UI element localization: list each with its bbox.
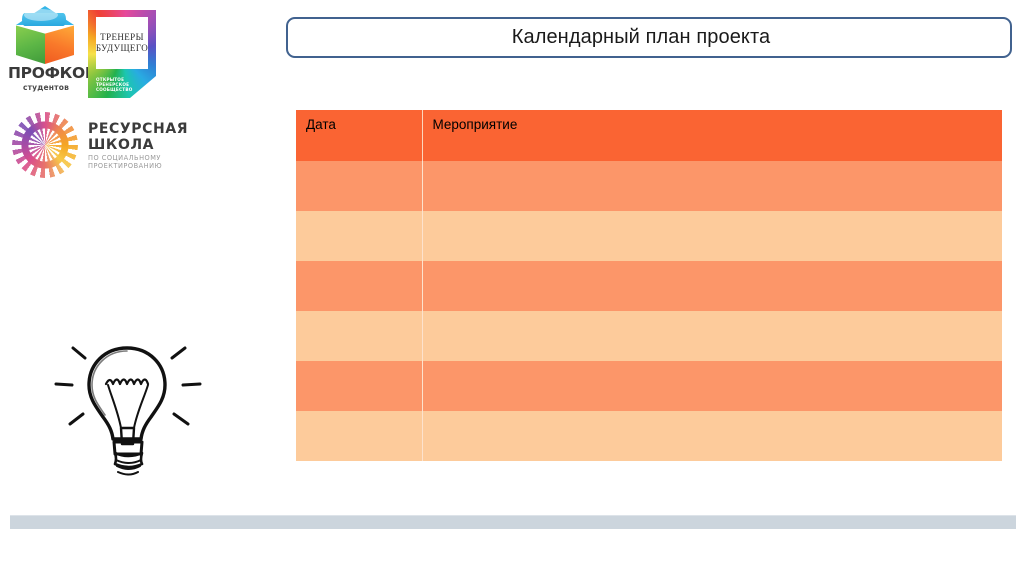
resursnaya-logo-line1: РЕСУРСНАЯ <box>88 121 188 137</box>
trenery-logo-inner: ТРЕНЕРЫ БУДУЩЕГО <box>96 17 148 69</box>
table-row <box>296 211 1002 261</box>
table-cell-event <box>422 411 1002 461</box>
table-body <box>296 161 1002 461</box>
table-row <box>296 411 1002 461</box>
trenery-logo-line1: ТРЕНЕРЫ <box>100 32 144 43</box>
table-cell-date <box>296 211 422 261</box>
table-row <box>296 311 1002 361</box>
gradient-gear-teeth-icon <box>12 112 78 178</box>
table-row <box>296 261 1002 311</box>
logo-block: ПРОФКОМ студентов ТРЕНЕРЫ БУДУЩЕГО ОТКРЫ… <box>0 0 285 190</box>
table-cell-date <box>296 161 422 211</box>
table-cell-date <box>296 311 422 361</box>
bottom-divider-bar <box>10 515 1016 529</box>
table-cell-event <box>422 161 1002 211</box>
table-cell-event <box>422 261 1002 311</box>
column-header-event: Мероприятие <box>422 110 1002 161</box>
profkom-logo-subtitle: студентов <box>8 83 84 92</box>
resursnaya-logo-line2: ШКОЛА <box>88 137 154 153</box>
lightbulb-illustration <box>52 332 202 477</box>
table-header-row: Дата Мероприятие <box>296 110 1002 161</box>
resursnaya-logo-caption: ПО СОЦИАЛЬНОМУПРОЕКТИРОВАНИЮ <box>88 154 162 170</box>
trenery-budushchego-logo: ТРЕНЕРЫ БУДУЩЕГО ОТКРЫТОЕ ТРЕНЕРСКОЕ СОО… <box>88 10 156 98</box>
profkom-logo-title: ПРОФКОМ <box>8 64 84 82</box>
page-title: Календарный план проекта <box>512 26 771 49</box>
trenery-logo-line2: БУДУЩЕГО <box>96 43 148 54</box>
calendar-plan-table: Дата Мероприятие <box>296 110 1002 461</box>
table-cell-event <box>422 311 1002 361</box>
table-cell-event <box>422 211 1002 261</box>
table-cell-date <box>296 411 422 461</box>
table-cell-date <box>296 261 422 311</box>
table-row <box>296 361 1002 411</box>
resursnaya-shkola-logo: РЕСУРСНАЯ ШКОЛА ПО СОЦИАЛЬНОМУПРОЕКТИРОВ… <box>6 108 186 184</box>
table-header: Дата Мероприятие <box>296 110 1002 161</box>
page-title-box: Календарный план проекта <box>286 17 1012 58</box>
colorful-cube-icon <box>12 6 78 68</box>
profkom-logo: ПРОФКОМ студентов <box>8 6 84 98</box>
table-row <box>296 161 1002 211</box>
trenery-logo-caption: ОТКРЫТОЕ ТРЕНЕРСКОЕ СООБЩЕСТВО <box>96 77 136 92</box>
table-cell-date <box>296 361 422 411</box>
column-header-date: Дата <box>296 110 422 161</box>
table-cell-event <box>422 361 1002 411</box>
